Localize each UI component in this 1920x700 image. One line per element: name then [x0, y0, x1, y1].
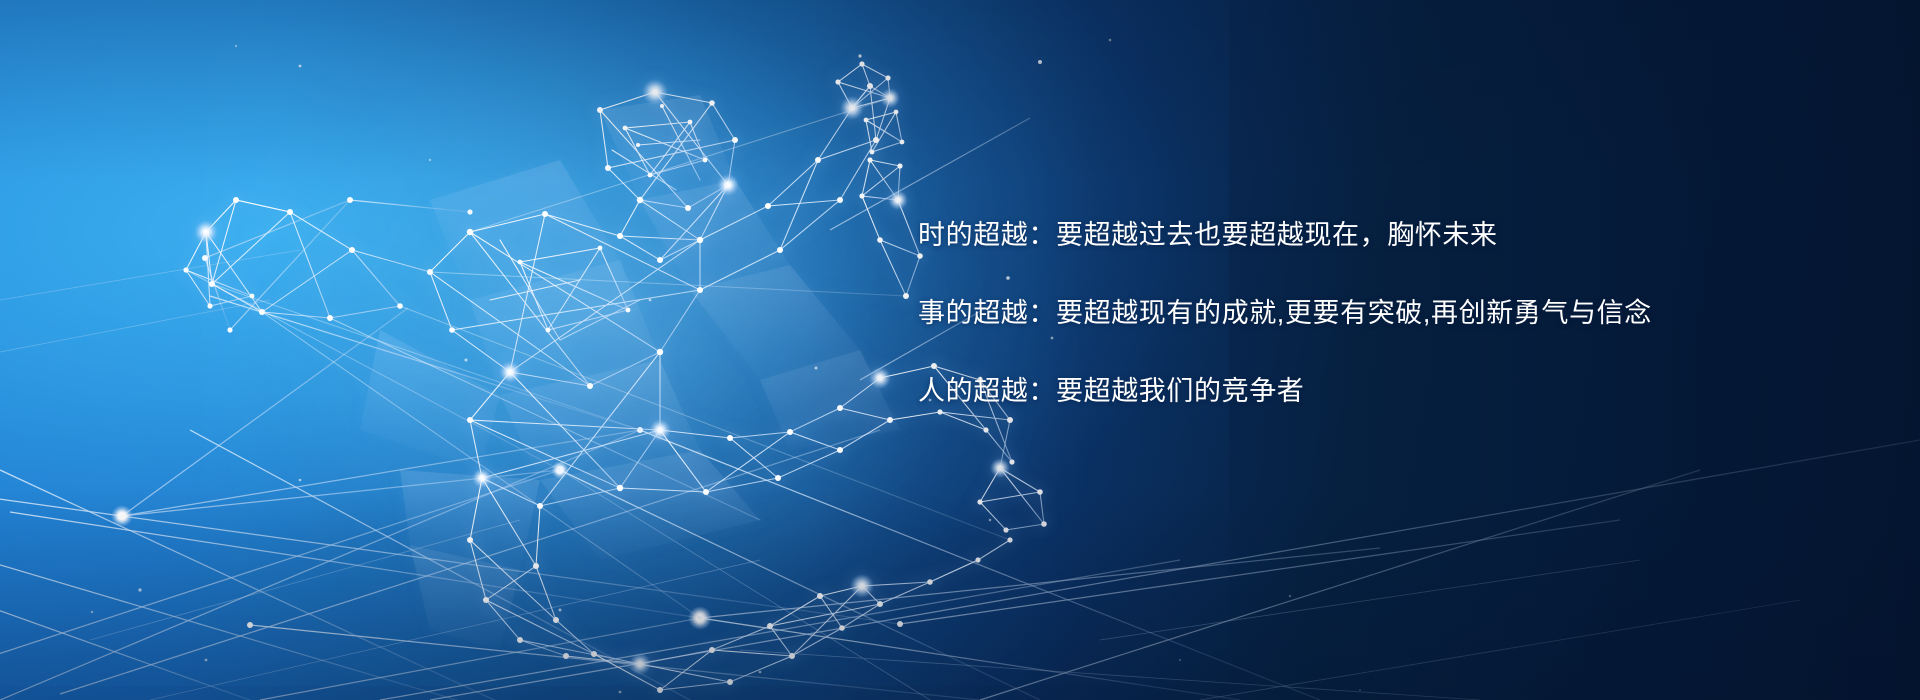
- slogan-line-3: 人的超越：要超越我们的竞争者: [918, 378, 1818, 405]
- slogan-line-1: 时的超越：要超越过去也要超越现在，胸怀未来: [918, 222, 1818, 249]
- slogan-line-2: 事的超越：要超越现有的成就,更要有突破,再创新勇气与信念: [918, 300, 1818, 327]
- hero-banner: 时的超越：要超越过去也要超越现在，胸怀未来 事的超越：要超越现有的成就,更要有突…: [0, 0, 1920, 700]
- slogan-block: 时的超越：要超越过去也要超越现在，胸怀未来 事的超越：要超越现有的成就,更要有突…: [918, 222, 1818, 405]
